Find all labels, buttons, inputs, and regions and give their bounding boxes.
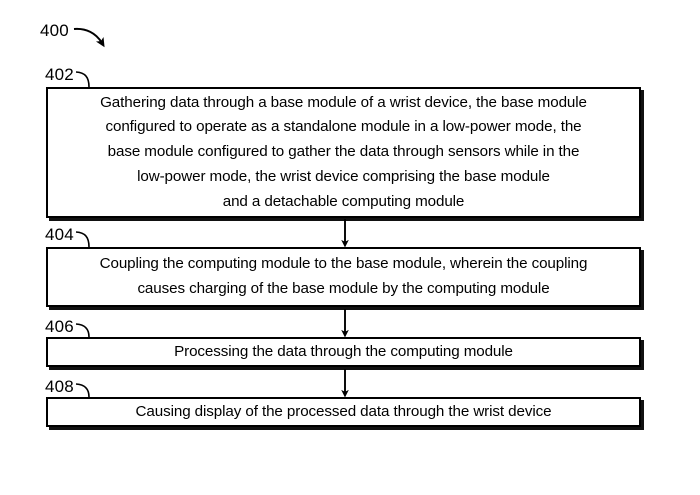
process-step-box-408: Causing display of the processed data th… (46, 397, 641, 427)
process-step-text-408: Causing display of the processed data th… (48, 400, 639, 425)
patent-flowchart: 400 402 Gathering data through a base mo… (0, 0, 700, 495)
leader-hook-404 (76, 232, 89, 247)
leader-hook-408 (76, 384, 89, 397)
leader-hook-406 (76, 324, 89, 337)
process-step-box-402: Gathering data through a base module of … (46, 87, 641, 218)
process-step-text-402: Gathering data through a base module of … (48, 91, 639, 215)
process-step-box-406: Processing the data through the computin… (46, 337, 641, 367)
process-step-text-404: Coupling the computing module to the bas… (48, 252, 639, 302)
leader-hook-402 (76, 72, 89, 87)
process-step-text-406: Processing the data through the computin… (48, 340, 639, 365)
step-ref-label-402: 402 (45, 66, 74, 83)
step-ref-label-404: 404 (45, 226, 74, 243)
step-ref-label-406: 406 (45, 318, 74, 335)
figure-number-label: 400 (40, 22, 69, 39)
step-ref-label-408: 408 (45, 378, 74, 395)
figure-lead-arrow (74, 29, 102, 43)
process-step-box-404: Coupling the computing module to the bas… (46, 247, 641, 307)
